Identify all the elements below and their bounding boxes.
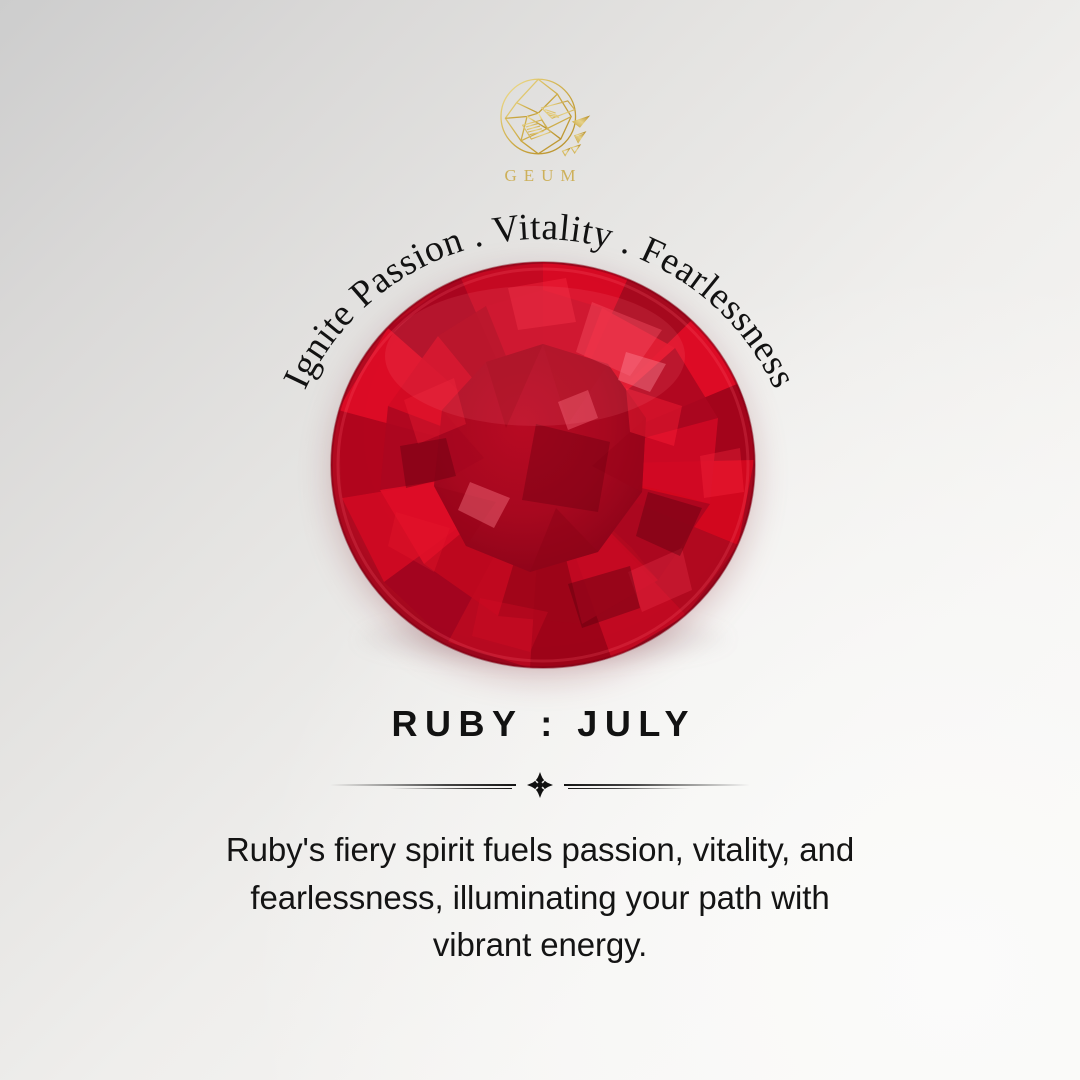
divider-rule-left [330,784,516,786]
decorative-divider [330,768,750,802]
four-petal-fleuron-icon [525,770,555,800]
gem-description: Ruby's fiery spirit fuels passion, vital… [204,826,876,969]
birthstone-card: GEUM Ignite Passion . Vitality . Fearles… [0,0,1080,1080]
gemstone-image [330,260,756,670]
page-title: RUBY : JULY [0,706,1080,742]
divider-rule-thin-left [390,788,512,789]
round-brilliant-ruby-icon [330,260,756,670]
brand-logo: GEUM [440,68,640,186]
caption-block: RUBY : JULY Ruby's fiery spirit fuels pa… [0,706,1080,969]
faceted-gem-logo-icon [488,68,592,172]
brand-name: GEUM [440,166,640,186]
divider-rule-right [564,784,750,786]
divider-rule-thin-right [568,788,690,789]
